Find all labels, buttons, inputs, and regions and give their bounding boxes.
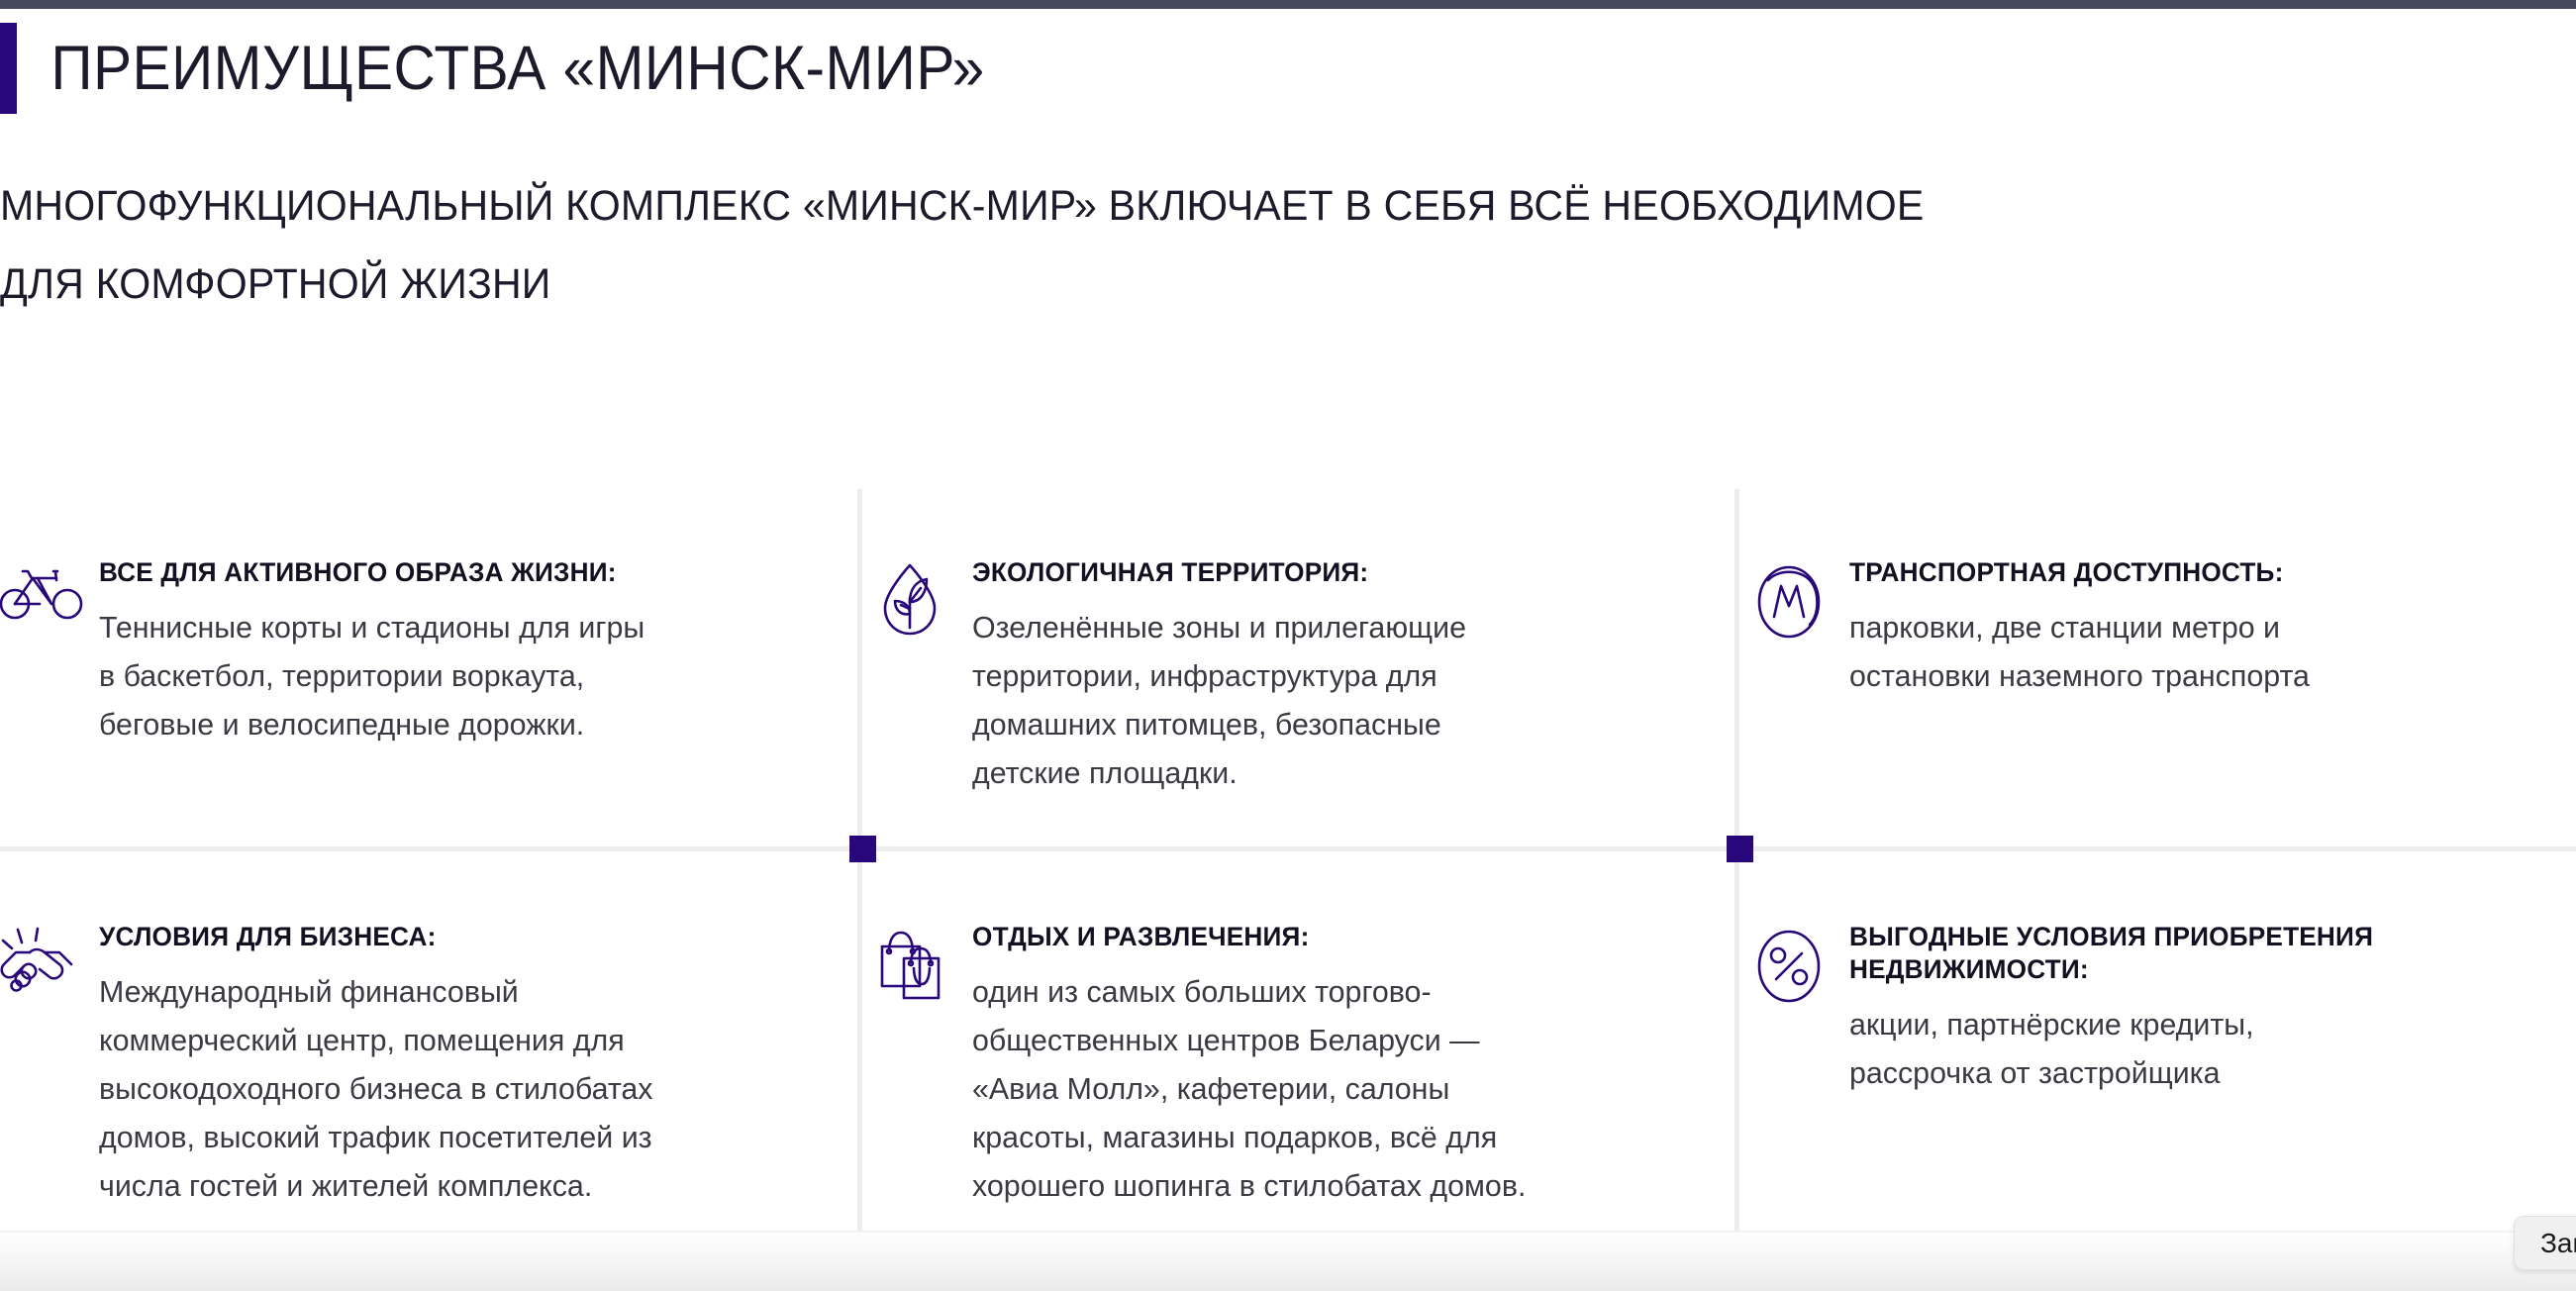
eco-leaf-drop-icon [877,556,972,638]
benefit-body-line: остановки наземного транспорта [1849,651,2542,700]
benefit-body-line: общественных центров Беларуси — [972,1016,1655,1064]
grid-vertical-divider-2 [1734,489,1739,1252]
benefit-card-body: Озеленённые зоны и прилегающие территори… [972,603,1655,797]
benefit-body-line: детские площадки. [972,748,1655,797]
page-subtitle: МНОГОФУНКЦИОНАЛЬНЫЙ КОМПЛЕКС «МИНСК-МИР»… [0,167,2460,324]
benefit-card-title: ТРАНСПОРТНАЯ ДОСТУПНОСТЬ: [1849,556,2535,589]
benefit-card-eco-territory: ЭКОЛОГИЧНАЯ ТЕРРИТОРИЯ: Озеленённые зоны… [877,556,1669,797]
benefit-card-purchase-terms: ВЫГОДНЫЕ УСЛОВИЯ ПРИОБРЕТЕНИЯ НЕДВИЖИМОС… [1754,921,2566,1097]
benefit-body-line: хорошего шопинга в стилобатах домов. [972,1161,1655,1210]
page-subtitle-line-1: МНОГОФУНКЦИОНАЛЬНЫЙ КОМПЛЕКС «МИНСК-МИР»… [0,167,2460,246]
benefit-card-body: Теннисные корты и стадионы для игры в ба… [99,603,788,748]
shopping-bags-icon [877,921,972,1004]
benefit-body-line: Международный финансовый [99,967,788,1016]
benefit-card-title: ВСЕ ДЛЯ АКТИВНОГО ОБРАЗА ЖИЗНИ: [99,556,781,589]
browser-top-bar [0,0,2576,9]
handshake-icon [0,921,99,1004]
benefit-body-line: один из самых больших торгово- [972,967,1655,1016]
benefit-body-line: «Авиа Молл», кафетерии, салоны [972,1064,1655,1113]
benefit-body-line: коммерческий центр, помещения для [99,1016,788,1064]
benefit-card-business: УСЛОВИЯ ДЛЯ БИЗНЕСА: Международный финан… [0,921,802,1210]
benefit-body-line: беговые и велосипедные дорожки. [99,700,788,748]
benefit-card-copy: ЭКОЛОГИЧНАЯ ТЕРРИТОРИЯ: Озеленённые зоны… [972,556,1669,797]
page-title: ПРЕИМУЩЕСТВА «МИНСК-МИР» [17,23,985,114]
benefit-card-transport: ТРАНСПОРТНАЯ ДОСТУПНОСТЬ: парковки, две … [1754,556,2556,700]
benefit-body-line: рассрочка от застройщика [1849,1048,2552,1097]
title-accent-bar [0,23,17,114]
metro-m-icon [1754,556,1849,642]
benefit-body-line: красоты, магазины подарков, всё для [972,1113,1655,1161]
percent-icon [1754,921,1849,1006]
benefit-card-title: УСЛОВИЯ ДЛЯ БИЗНЕСА: [99,921,781,953]
benefit-card-body: парковки, две станции метро и остановки … [1849,603,2542,700]
benefit-body-line: числа гостей и жителей комплекса. [99,1161,788,1210]
benefit-card-title: ОТДЫХ И РАЗВЛЕЧЕНИЯ: [972,921,1648,953]
benefit-card-title: ЭКОЛОГИЧНАЯ ТЕРРИТОРИЯ: [972,556,1648,589]
bottom-sticky-band [0,1231,2576,1291]
benefit-card-body: один из самых больших торгово- обществен… [972,967,1655,1210]
page-content: ПРЕИМУЩЕСТВА «МИНСК-МИР» МНОГОФУНКЦИОНАЛ… [0,9,2576,1291]
cta-signup-button[interactable]: Зап [2514,1216,2576,1270]
benefit-card-title: ВЫГОДНЫЕ УСЛОВИЯ ПРИОБРЕТЕНИЯ НЕДВИЖИМОС… [1849,921,2544,986]
grid-horizontal-divider [0,846,2576,851]
page-title-row: ПРЕИМУЩЕСТВА «МИНСК-МИР» [0,23,1057,114]
benefit-body-line: территории, инфраструктура для [972,651,1655,700]
benefit-body-line: акции, партнёрские кредиты, [1849,1000,2552,1048]
benefit-body-line: в баскетбол, территории воркаута, [99,651,788,700]
benefit-body-line: Теннисные корты и стадионы для игры [99,603,788,651]
benefit-card-leisure: ОТДЫХ И РАЗВЛЕЧЕНИЯ: один из самых больш… [877,921,1669,1210]
benefit-body-line: домашних питомцев, безопасные [972,700,1655,748]
benefit-body-line: домов, высокий трафик посетителей из [99,1113,788,1161]
benefit-card-copy: ОТДЫХ И РАЗВЛЕЧЕНИЯ: один из самых больш… [972,921,1669,1210]
benefit-body-line: парковки, две станции метро и [1849,603,2542,651]
benefit-card-copy: УСЛОВИЯ ДЛЯ БИЗНЕСА: Международный финан… [99,921,802,1210]
bicycle-icon [0,556,99,620]
benefit-card-active-lifestyle: ВСЕ ДЛЯ АКТИВНОГО ОБРАЗА ЖИЗНИ: Теннисны… [0,556,802,748]
grid-node-square-1 [849,836,876,862]
benefit-card-body: Международный финансовый коммерческий це… [99,967,788,1210]
benefit-card-copy: ВЫГОДНЫЕ УСЛОВИЯ ПРИОБРЕТЕНИЯ НЕДВИЖИМОС… [1849,921,2566,1097]
benefit-body-line: высокодоходного бизнеса в стилобатах [99,1064,788,1113]
benefit-body-line: Озеленённые зоны и прилегающие [972,603,1655,651]
benefit-card-copy: ВСЕ ДЛЯ АКТИВНОГО ОБРАЗА ЖИЗНИ: Теннисны… [99,556,802,748]
benefit-card-body: акции, партнёрские кредиты, рассрочка от… [1849,1000,2552,1097]
grid-node-square-2 [1727,836,1753,862]
grid-vertical-divider-1 [857,489,862,1252]
benefit-card-copy: ТРАНСПОРТНАЯ ДОСТУПНОСТЬ: парковки, две … [1849,556,2556,700]
page-subtitle-line-2: ДЛЯ КОМФОРТНОЙ ЖИЗНИ [0,246,2460,324]
